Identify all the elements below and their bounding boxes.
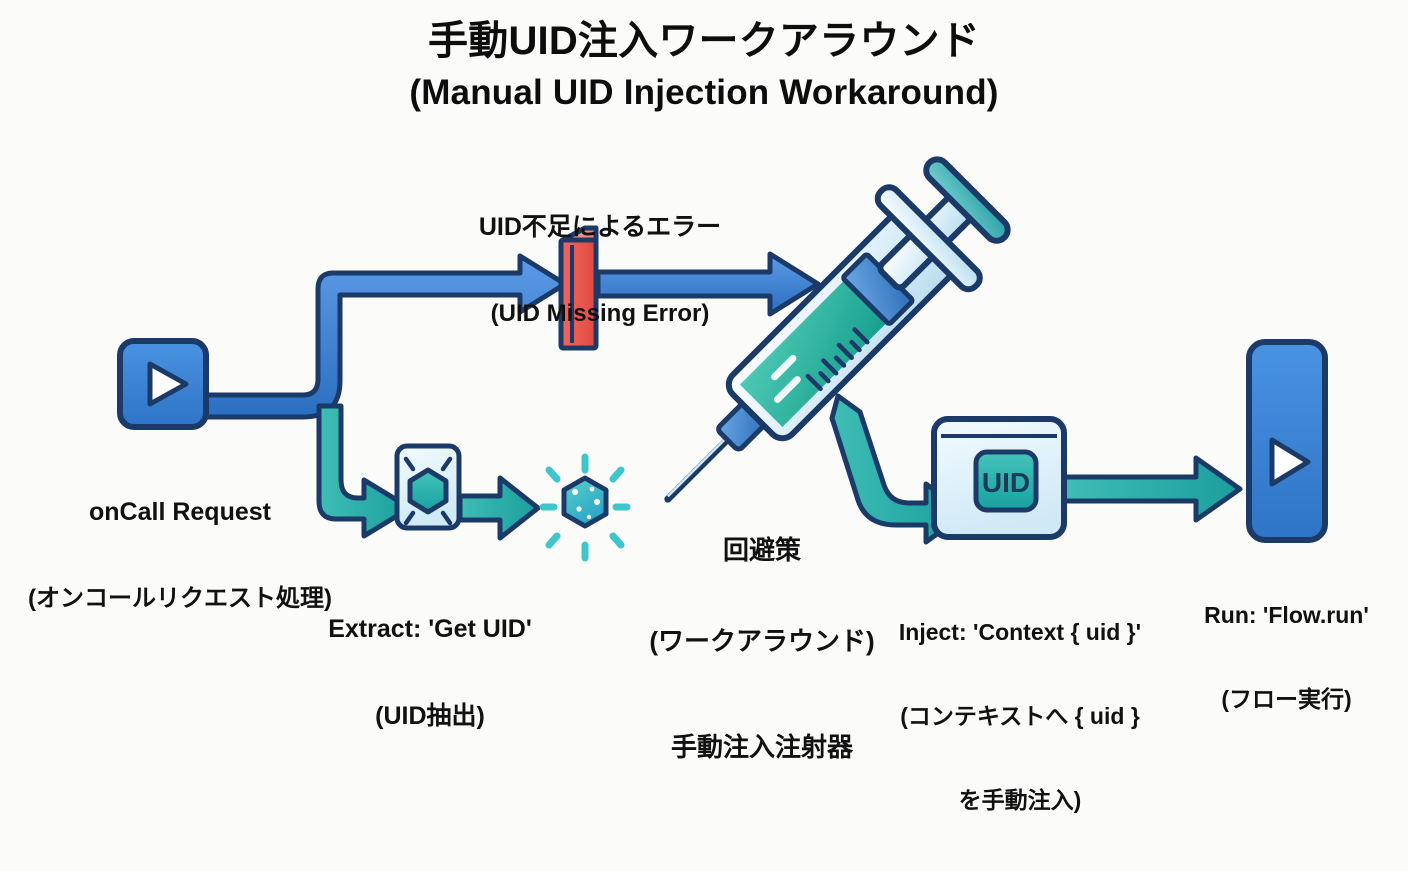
node-oncall-request[interactable] — [120, 341, 206, 427]
label-run-en: Run: 'Flow.run' — [1165, 601, 1408, 629]
label-error-en: (UID Missing Error) — [380, 300, 820, 328]
label-error-jp: UID不足によるエラー — [380, 213, 820, 242]
hexagon-sparkle-icon — [406, 459, 450, 523]
diagram-canvas: 手動UID注入ワークアラウンド (Manual UID Injection Wo… — [0, 0, 1408, 768]
label-extract-en: Extract: 'Get UID' — [265, 615, 595, 644]
label-inject-jp2: を手動注入) — [855, 786, 1185, 814]
label-inject-context: Inject: 'Context { uid }' (コンテキストへ { uid… — [855, 562, 1185, 871]
label-extract-get-uid: Extract: 'Get UID' (UID抽出) — [265, 557, 595, 789]
label-run-jp: (フロー実行) — [1165, 685, 1408, 713]
node-inject-context[interactable]: UID — [934, 419, 1064, 537]
label-workaround-jp: 回避策 — [612, 535, 912, 565]
label-uid-missing-error: UID不足によるエラー (UID Missing Error) — [380, 155, 820, 386]
label-inject-en: Inject: 'Context { uid }' — [855, 618, 1185, 646]
label-inject-jp: (コンテキストへ { uid } — [855, 702, 1185, 730]
uid-chip-label: UID — [982, 467, 1030, 498]
label-extract-jp: (UID抽出) — [265, 702, 595, 731]
arrow-inject-to-run — [1063, 458, 1240, 520]
label-run-flow: Run: 'Flow.run' (フロー実行) — [1165, 545, 1408, 769]
node-extract-get-uid[interactable] — [397, 446, 459, 528]
arrow-extract-to-token — [460, 478, 538, 538]
node-run-flow[interactable] — [1249, 342, 1325, 540]
label-oncall-en: onCall Request — [20, 498, 340, 527]
